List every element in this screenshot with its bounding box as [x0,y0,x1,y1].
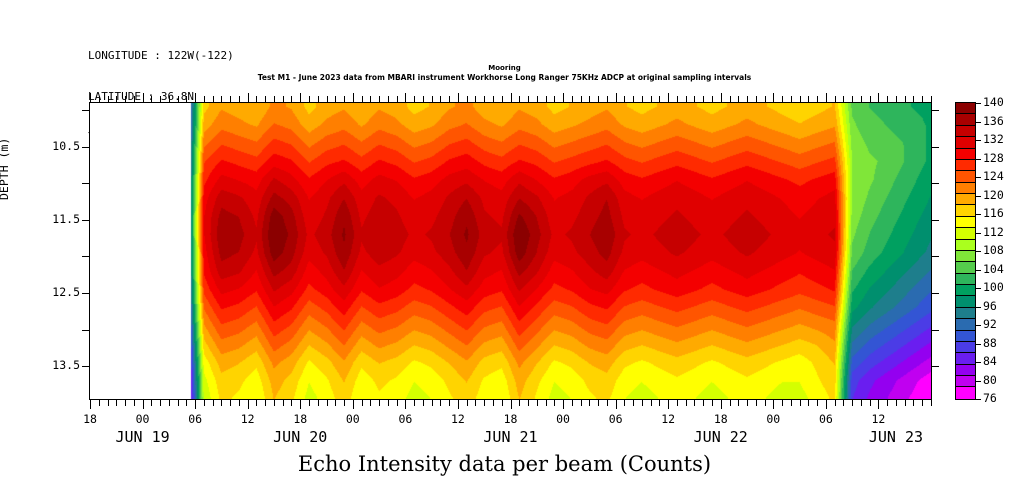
x-tick-29 [239,400,240,406]
x-tick-top-106 [913,96,914,102]
colorbar-band-4 [956,149,975,160]
colorbar-band-15 [956,274,975,285]
x-tick-top-14 [108,96,109,102]
x-tick-top-45 [379,96,380,102]
x-tick-60 [511,400,512,409]
x-tick-top-70 [598,96,599,102]
x-tick-top-12 [90,93,91,102]
colorbar-tick-132 [976,140,981,141]
x-tick-top-38 [318,96,319,102]
x-tick-top-26 [213,96,214,102]
x-tick-top-42 [353,93,354,102]
x-tick-43 [362,400,363,406]
x-tick-top-103 [887,96,888,102]
x-tick-top-69 [589,96,590,102]
x-tick-47 [397,400,398,406]
x-tick-14 [108,400,109,406]
x-tick-top-65 [554,96,555,102]
x-tick-top-88 [756,96,757,102]
colorbar-label-76: 76 [983,391,997,405]
x-tick-top-41 [344,96,345,102]
colorbar-label-132: 132 [983,132,1004,146]
colorbar-label-140: 140 [983,95,1004,109]
colorbar-tick-136 [976,122,981,123]
plot-title: Test M1 - June 2023 data from MBARI inst… [0,73,1009,82]
x-tick-top-80 [686,96,687,102]
x-tick-36 [300,400,301,409]
x-tick-top-72 [616,93,617,102]
x-tick-top-27 [221,96,222,102]
x-tick-top-75 [642,96,643,102]
x-tick-90 [773,400,774,409]
x-tick-top-35 [291,96,292,102]
x-tick-87 [747,400,748,406]
x-axis-hour-label-4: 18 [280,412,320,426]
x-tick-12 [90,400,91,409]
x-tick-97 [835,400,836,406]
y-tick-right-13 [932,330,939,331]
x-tick-107 [922,400,923,406]
x-tick-77 [659,400,660,406]
x-tick-108 [931,400,932,406]
x-axis-hour-label-13: 00 [753,412,793,426]
x-axis-hour-label-0: 18 [70,412,110,426]
colorbar-tick-80 [976,381,981,382]
colorbar-band-17 [956,296,975,307]
colorbar-tick-92 [976,325,981,326]
x-tick-45 [379,400,380,406]
x-tick-100 [861,400,862,406]
x-tick-top-58 [493,96,494,102]
x-tick-61 [519,400,520,406]
x-tick-top-28 [230,96,231,102]
y-axis-label-3: 13.5 [18,358,80,372]
colorbar-band-5 [956,160,975,171]
plot-subtitle: Mooring [0,64,1009,72]
colorbar-tick-140 [976,103,981,104]
heatmap-plot-area [89,102,932,400]
x-tick-top-73 [624,96,625,102]
x-tick-top-78 [668,93,669,102]
colorbar-label-84: 84 [983,354,997,368]
colorbar-band-11 [956,228,975,239]
colorbar-band-19 [956,319,975,330]
echo-intensity-heatmap [90,103,931,399]
x-tick-top-13 [99,96,100,102]
x-tick-top-20 [160,96,161,102]
colorbar-tick-116 [976,214,981,215]
colorbar-tick-108 [976,251,981,252]
x-tick-41 [344,400,345,406]
x-tick-37 [309,400,310,406]
x-tick-91 [782,400,783,406]
x-tick-106 [913,400,914,406]
x-tick-49 [414,400,415,406]
x-tick-top-47 [397,96,398,102]
x-axis-hour-label-9: 00 [543,412,583,426]
x-tick-top-60 [511,93,512,102]
x-axis-hour-label-8: 18 [491,412,531,426]
x-axis-hour-label-3: 12 [228,412,268,426]
y-tick-right-12 [932,256,939,257]
y-tick-right-11.5 [932,220,939,221]
x-tick-79 [677,400,678,406]
x-axis-hour-label-5: 00 [333,412,373,426]
y-axis-label-1: 11.5 [18,212,80,226]
x-tick-42 [353,400,354,409]
colorbar-tick-128 [976,159,981,160]
x-tick-top-32 [265,96,266,102]
x-axis-hour-label-7: 12 [438,412,478,426]
x-tick-46 [388,400,389,406]
x-tick-85 [730,400,731,406]
x-tick-20 [160,400,161,406]
colorbar-label-80: 80 [983,373,997,387]
x-tick-top-64 [546,96,547,102]
x-tick-84 [721,400,722,409]
x-tick-62 [528,400,529,406]
colorbar-label-124: 124 [983,169,1004,183]
x-tick-top-34 [283,96,284,102]
x-tick-top-55 [467,96,468,102]
y-tick-10 [82,110,89,111]
x-tick-top-49 [414,96,415,102]
colorbar-tick-120 [976,196,981,197]
x-tick-top-83 [712,96,713,102]
y-tick-12.5 [82,293,89,294]
x-tick-top-15 [116,96,117,102]
colorbar-band-3 [956,137,975,148]
x-tick-top-37 [309,96,310,102]
x-tick-34 [283,400,284,406]
y-tick-right-12.5 [932,293,939,294]
x-tick-64 [546,400,547,406]
x-tick-53 [449,400,450,406]
colorbar [955,102,976,400]
x-tick-top-44 [370,96,371,102]
x-tick-top-99 [852,96,853,102]
x-tick-top-76 [651,96,652,102]
colorbar-label-128: 128 [983,151,1004,165]
x-tick-top-68 [581,96,582,102]
x-tick-top-107 [922,96,923,102]
x-tick-top-30 [248,93,249,102]
x-tick-78 [668,400,669,409]
x-tick-top-33 [274,96,275,102]
x-tick-27 [221,400,222,406]
x-tick-95 [817,400,818,406]
x-tick-top-52 [440,96,441,102]
x-tick-24 [195,400,196,409]
colorbar-tick-100 [976,288,981,289]
x-tick-top-19 [151,96,152,102]
x-tick-99 [852,400,853,406]
y-axis-label-0: 10.5 [18,139,80,153]
x-tick-17 [134,400,135,406]
colorbar-tick-76 [976,399,981,400]
colorbar-label-104: 104 [983,262,1004,276]
y-tick-right-11 [932,183,939,184]
x-tick-76 [651,400,652,406]
x-tick-top-86 [738,96,739,102]
x-tick-top-101 [870,96,871,102]
y-tick-13 [82,330,89,331]
colorbar-label-112: 112 [983,225,1004,239]
x-tick-top-91 [782,96,783,102]
x-tick-19 [151,400,152,406]
x-tick-top-48 [405,93,406,102]
x-tick-top-29 [239,96,240,102]
x-tick-96 [826,400,827,409]
x-tick-top-31 [256,96,257,102]
x-tick-21 [169,400,170,406]
x-tick-86 [738,400,739,406]
x-tick-54 [458,400,459,409]
colorbar-band-6 [956,171,975,182]
x-tick-top-105 [905,96,906,102]
x-tick-top-95 [817,96,818,102]
x-tick-48 [405,400,406,409]
x-tick-top-96 [826,93,827,102]
figure-caption: Echo Intensity data per beam (Counts) [0,452,1009,476]
colorbar-label-116: 116 [983,206,1004,220]
x-tick-top-87 [747,96,748,102]
colorbar-tick-96 [976,307,981,308]
x-tick-94 [808,400,809,406]
colorbar-band-23 [956,365,975,376]
x-tick-top-104 [896,96,897,102]
x-axis-hour-label-1: 00 [123,412,163,426]
y-tick-right-10.5 [932,147,939,148]
x-tick-top-53 [449,96,450,102]
colorbar-band-0 [956,103,975,114]
y-tick-12 [82,256,89,257]
x-tick-top-98 [843,96,844,102]
x-tick-67 [572,400,573,406]
x-tick-22 [178,400,179,406]
colorbar-label-88: 88 [983,336,997,350]
x-tick-top-92 [791,96,792,102]
x-tick-top-77 [659,96,660,102]
adcp-echo-intensity-plot: LONGITUDE : 122W(-122) LATITUDE : 36.8N … [0,0,1009,504]
x-tick-28 [230,400,231,406]
x-tick-69 [589,400,590,406]
y-axis-title: DEPTH (m) [0,138,11,200]
x-tick-105 [905,400,906,406]
x-tick-top-40 [335,96,336,102]
x-tick-82 [703,400,704,406]
x-tick-55 [467,400,468,406]
x-tick-top-16 [125,96,126,102]
x-tick-top-18 [143,93,144,102]
colorbar-tick-112 [976,233,981,234]
x-tick-59 [502,400,503,406]
x-tick-top-39 [327,96,328,102]
x-tick-58 [493,400,494,406]
x-tick-33 [274,400,275,406]
colorbar-label-92: 92 [983,317,997,331]
x-tick-top-50 [423,96,424,102]
x-tick-35 [291,400,292,406]
x-tick-top-57 [484,96,485,102]
x-tick-top-61 [519,96,520,102]
y-tick-11.5 [82,220,89,221]
x-tick-71 [607,400,608,406]
x-tick-70 [598,400,599,406]
x-tick-top-66 [563,93,564,102]
x-tick-93 [800,400,801,406]
x-tick-top-93 [800,96,801,102]
x-tick-89 [765,400,766,406]
x-tick-73 [624,400,625,406]
x-axis-hour-label-11: 12 [648,412,688,426]
colorbar-label-108: 108 [983,243,1004,257]
colorbar-label-120: 120 [983,188,1004,202]
x-axis-hour-label-12: 18 [701,412,741,426]
x-axis-day-label-0: JUN 19 [88,428,198,446]
x-tick-top-108 [931,96,932,102]
x-tick-top-21 [169,96,170,102]
colorbar-tick-84 [976,362,981,363]
x-tick-74 [633,400,634,406]
colorbar-band-2 [956,126,975,137]
x-tick-top-24 [195,93,196,102]
colorbar-band-22 [956,353,975,364]
x-tick-top-46 [388,96,389,102]
colorbar-tick-88 [976,344,981,345]
y-tick-10.5 [82,147,89,148]
x-tick-top-36 [300,93,301,102]
x-tick-13 [99,400,100,406]
x-tick-104 [896,400,897,406]
x-tick-top-63 [537,96,538,102]
longitude-line: LONGITUDE : 122W(-122) [88,49,234,63]
x-axis-hour-label-2: 06 [175,412,215,426]
colorbar-band-21 [956,342,975,353]
colorbar-band-12 [956,240,975,251]
x-axis-hour-label-15: 12 [858,412,898,426]
colorbar-band-1 [956,114,975,125]
x-tick-16 [125,400,126,406]
x-tick-38 [318,400,319,406]
x-tick-top-82 [703,96,704,102]
colorbar-label-96: 96 [983,299,997,313]
colorbar-band-20 [956,331,975,342]
x-tick-51 [432,400,433,406]
x-tick-top-94 [808,96,809,102]
x-tick-15 [116,400,117,406]
y-tick-13.5 [82,366,89,367]
x-tick-75 [642,400,643,406]
x-tick-83 [712,400,713,406]
colorbar-band-24 [956,376,975,387]
y-tick-right-10 [932,110,939,111]
colorbar-tick-124 [976,177,981,178]
x-tick-18 [143,400,144,409]
x-tick-65 [554,400,555,406]
x-tick-top-89 [765,96,766,102]
colorbar-band-8 [956,194,975,205]
x-axis-hour-label-14: 06 [806,412,846,426]
x-tick-top-71 [607,96,608,102]
x-tick-top-56 [475,96,476,102]
x-tick-top-97 [835,96,836,102]
x-tick-66 [563,400,564,409]
x-tick-103 [887,400,888,406]
x-tick-top-62 [528,96,529,102]
x-tick-top-85 [730,96,731,102]
y-tick-right-13.5 [932,366,939,367]
x-tick-98 [843,400,844,406]
x-tick-top-54 [458,93,459,102]
x-axis-day-label-1: JUN 20 [245,428,355,446]
x-tick-top-25 [204,96,205,102]
x-axis-hour-label-10: 06 [596,412,636,426]
x-tick-72 [616,400,617,409]
x-tick-top-84 [721,93,722,102]
x-tick-top-81 [694,96,695,102]
x-tick-31 [256,400,257,406]
x-tick-57 [484,400,485,406]
x-tick-top-90 [773,93,774,102]
x-tick-25 [204,400,205,406]
x-tick-top-79 [677,96,678,102]
x-tick-top-17 [134,96,135,102]
x-tick-top-100 [861,96,862,102]
x-axis-hour-label-6: 06 [385,412,425,426]
x-tick-top-74 [633,96,634,102]
colorbar-band-13 [956,251,975,262]
x-axis-day-label-2: JUN 21 [456,428,566,446]
x-tick-101 [870,400,871,406]
x-tick-top-43 [362,96,363,102]
x-tick-top-51 [432,96,433,102]
colorbar-label-100: 100 [983,280,1004,294]
colorbar-band-18 [956,308,975,319]
colorbar-label-136: 136 [983,114,1004,128]
colorbar-band-7 [956,183,975,194]
x-tick-26 [213,400,214,406]
x-tick-102 [878,400,879,409]
x-tick-88 [756,400,757,406]
colorbar-tick-104 [976,270,981,271]
x-tick-92 [791,400,792,406]
x-tick-81 [694,400,695,406]
colorbar-band-14 [956,262,975,273]
x-tick-30 [248,400,249,409]
x-tick-23 [186,400,187,406]
x-axis-day-label-3: JUN 22 [666,428,776,446]
x-tick-top-22 [178,96,179,102]
colorbar-band-16 [956,285,975,296]
x-tick-63 [537,400,538,406]
x-axis-day-label-4: JUN 23 [841,428,951,446]
colorbar-band-9 [956,205,975,216]
x-tick-39 [327,400,328,406]
x-tick-top-59 [502,96,503,102]
colorbar-band-10 [956,217,975,228]
colorbar-band-25 [956,387,975,398]
x-tick-40 [335,400,336,406]
x-tick-top-23 [186,96,187,102]
x-tick-top-102 [878,93,879,102]
x-tick-50 [423,400,424,406]
x-tick-32 [265,400,266,406]
x-tick-44 [370,400,371,406]
y-tick-11 [82,183,89,184]
y-axis-label-2: 12.5 [18,285,80,299]
x-tick-56 [475,400,476,406]
